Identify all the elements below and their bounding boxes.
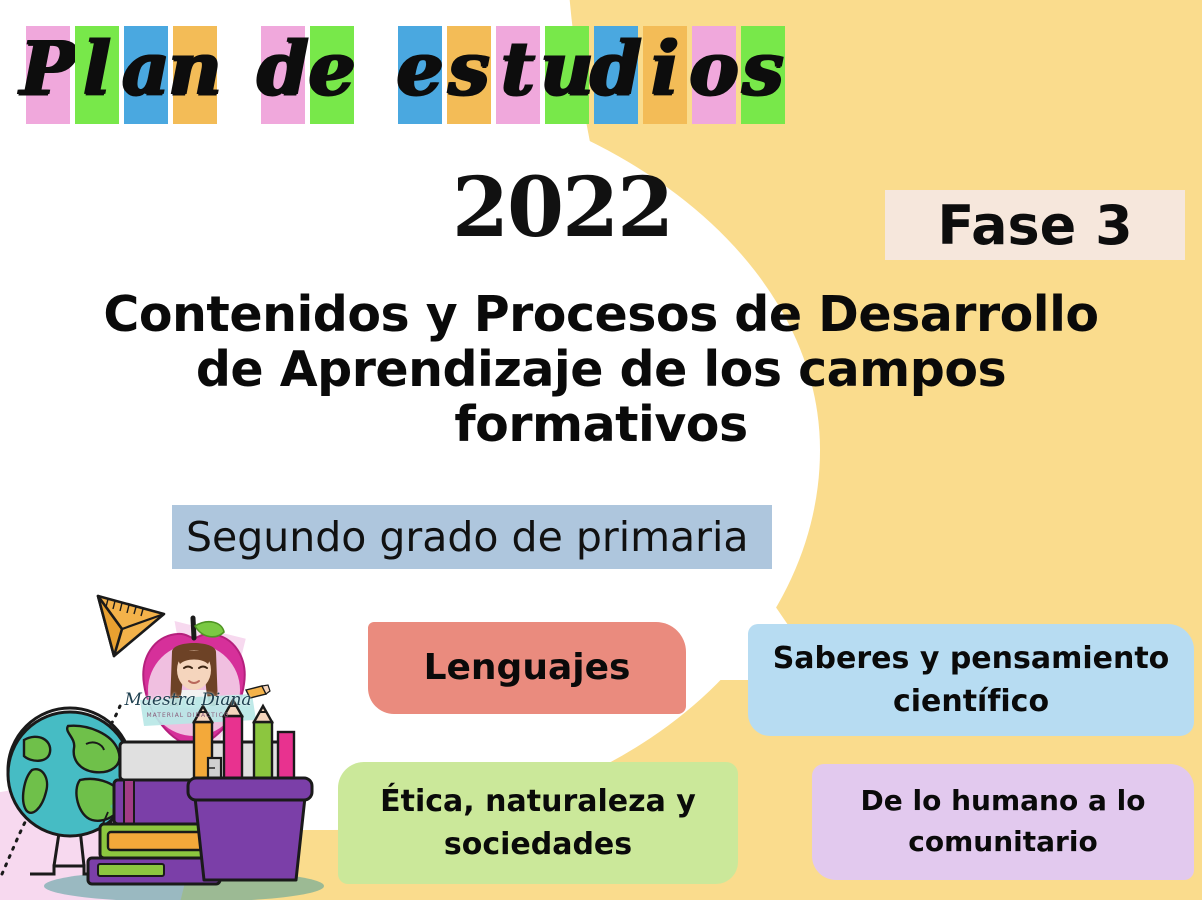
title-letter-tile-6: e [398, 26, 442, 124]
title-letter-tile-0: P [26, 26, 70, 124]
title-letter-glyph-5: e [308, 32, 355, 106]
pencil-cup-icon [188, 700, 312, 880]
title-letter-glyph-4: d [257, 32, 309, 106]
poster-title: Plandeestudios [0, 26, 1202, 146]
title-letter-glyph-3: n [168, 32, 222, 106]
logo-subtitle: MATERIAL DIDACTICO [118, 712, 258, 719]
page-title-line-2: de Aprendizaje de los campos [50, 343, 1152, 398]
page-title-line-1: Contenidos y Procesos de Desarrollo [50, 288, 1152, 343]
title-letter-glyph-13: s [742, 32, 784, 106]
title-letter-glyph-10: d [590, 32, 642, 106]
title-letter-glyph-0: P [20, 32, 76, 106]
campo-formativo-etica[interactable]: Ética, naturaleza y sociedades [338, 762, 738, 884]
logo-name: Maestra Diana [112, 690, 264, 710]
title-letter-glyph-1: l [83, 32, 111, 106]
title-letter-tile-2: a [124, 26, 168, 124]
fase-label: Fase 3 [937, 194, 1132, 257]
title-letter-glyph-9: u [540, 32, 594, 106]
title-letter-tile-10: d [594, 26, 638, 124]
title-letter-tile-8: t [496, 26, 540, 124]
title-letter-tile-9: u [545, 26, 589, 124]
year-label: 2022 [452, 160, 672, 256]
grade-label: Segundo grado de primaria [186, 513, 749, 561]
campo-label-humano: De lo humano a lo comunitario [832, 781, 1174, 862]
title-letter-glyph-11: i [651, 32, 679, 106]
school-illustration [0, 574, 334, 900]
title-letter-glyph-6: e [396, 32, 443, 106]
page-title-line-3: formativos [50, 398, 1152, 453]
poster-canvas: Plandeestudios 2022 Fase 3 Contenidos y … [0, 0, 1202, 900]
title-letter-tile-4: d [261, 26, 305, 124]
title-letter-glyph-7: s [448, 32, 490, 106]
campo-label-saberes: Saberes y pensamiento científico [772, 637, 1170, 724]
fase-badge: Fase 3 [885, 190, 1185, 260]
title-letter-tile-11: i [643, 26, 687, 124]
campo-label-etica: Ética, naturaleza y sociedades [358, 780, 718, 867]
campo-formativo-lenguajes[interactable]: Lenguajes [368, 622, 686, 714]
title-letter-tile-3: n [173, 26, 217, 124]
title-letter-tile-13: s [741, 26, 785, 124]
page-title: Contenidos y Procesos de Desarrollo de A… [0, 288, 1202, 453]
title-letter-tile-7: s [447, 26, 491, 124]
campo-formativo-humano[interactable]: De lo humano a lo comunitario [812, 764, 1194, 880]
title-letter-tile-12: o [692, 26, 736, 124]
title-letter-tile-1: l [75, 26, 119, 124]
grade-band: Segundo grado de primaria [172, 505, 772, 569]
title-letter-glyph-2: a [122, 32, 170, 106]
title-letter-glyph-12: o [689, 32, 738, 106]
campo-label-lenguajes: Lenguajes [424, 642, 631, 694]
campo-formativo-saberes[interactable]: Saberes y pensamiento científico [748, 624, 1194, 736]
title-letter-glyph-8: t [501, 32, 535, 106]
title-letter-tile-5: e [310, 26, 354, 124]
